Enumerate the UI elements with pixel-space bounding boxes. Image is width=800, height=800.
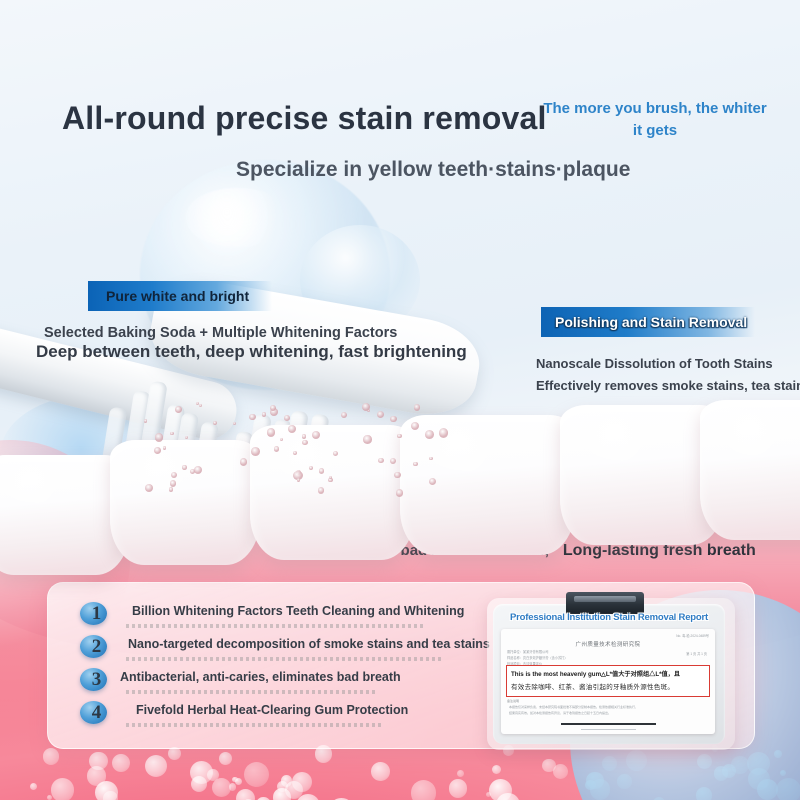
product-marketing-poster: All-round precise stain removal Speciali… — [0, 0, 800, 800]
foam-bubble — [43, 748, 60, 765]
benefit-item: 2Nano-targeted decomposition of smoke st… — [80, 633, 440, 666]
foam-bubble — [47, 795, 52, 800]
report-note-body: 本报告仅对来样负责，未经本研究院书面批准不得部分复制本报告。检测依据相关行业标准… — [509, 704, 707, 716]
benefit-text: Antibacterial, anti-caries, eliminates b… — [120, 670, 401, 684]
benefit-item: 3Antibacterial, anti-caries, eliminates … — [80, 666, 440, 699]
report-highlight-en: This is the most heavenly gum — [511, 671, 601, 678]
tooth — [110, 440, 260, 565]
plaque-particle — [425, 430, 434, 439]
report-doc-header: 广州质量技术检测研究院 — [501, 640, 715, 648]
plaque-particle — [175, 406, 182, 413]
benefit-number: 2 — [80, 633, 113, 660]
plaque-particle — [270, 405, 276, 411]
plaque-particle — [312, 431, 320, 439]
foam-bubble — [244, 762, 269, 787]
plaque-particle — [144, 419, 148, 423]
report-highlight-box: This is the most heavenly gum△L*值大于对照组△L… — [506, 665, 710, 697]
benefit-number: 1 — [80, 600, 113, 627]
plaque-particle — [390, 416, 397, 423]
benefit-underline — [126, 723, 384, 727]
feature-badge-label: Polishing and Stain Removal — [555, 314, 747, 330]
report-doc-page: 第 1 页 共 1 页 — [686, 651, 707, 656]
foam-bubble — [486, 792, 491, 797]
clipboard-clamp-icon — [566, 592, 644, 614]
plaque-particle — [251, 447, 260, 456]
plaque-particle — [267, 428, 276, 437]
benefit-item: 1Billion Whitening Factors Teeth Cleanin… — [80, 600, 440, 633]
foam-bubble — [207, 769, 219, 781]
tagline: The more you brush, the whiter it gets — [540, 98, 770, 142]
foam-bubble — [492, 765, 501, 774]
page-subtitle: Specialize in yellow teeth·stains·plaque — [236, 158, 630, 182]
benefit-text: Billion Whitening Factors Teeth Cleaning… — [132, 604, 464, 618]
foam-bubble — [457, 770, 464, 777]
benefit-text: Nano-targeted decomposition of smoke sta… — [128, 637, 490, 651]
report-highlight-line-1: This is the most heavenly gum△L*值大于对照组△L… — [511, 669, 680, 678]
plaque-particle — [309, 466, 313, 470]
plaque-particle — [170, 480, 176, 486]
plaque-particle — [182, 465, 186, 469]
report-note-title: 备注说明 — [507, 699, 519, 703]
plaque-particle — [154, 447, 161, 454]
report-highlight-line-2: 有效去除咖啡、红茶、酱油引起的牙釉质外源性色斑。 — [511, 681, 674, 691]
plaque-particle — [363, 435, 371, 443]
benefit-underline — [126, 657, 444, 661]
plaque-particle — [397, 434, 401, 438]
plaque-particle — [439, 428, 449, 438]
plaque-particle — [163, 446, 167, 450]
foam-bubble — [411, 780, 436, 800]
plaque-particle — [413, 462, 418, 467]
benefit-item: 4Fivefold Herbal Heat-Clearing Gum Prote… — [80, 699, 440, 732]
benefit-number: 3 — [80, 666, 113, 693]
page-title: All-round precise stain removal — [62, 100, 547, 137]
feature-badge-pure-white: Pure white and bright — [88, 281, 272, 311]
report-doc-code: No. 粤-检-2024-0489号 — [676, 633, 709, 638]
report-highlight-cn: △L*值大于对照组△L*值，且 — [601, 671, 680, 678]
benefit-text: Fivefold Herbal Heat-Clearing Gum Protec… — [136, 703, 408, 717]
plaque-particle — [302, 440, 307, 445]
report-signature-subline — [581, 729, 636, 730]
plaque-particle — [262, 412, 266, 416]
foam-bubble — [449, 779, 467, 797]
plaque-particle — [284, 415, 290, 421]
plaque-particle — [396, 489, 403, 496]
benefits-list: 1Billion Whitening Factors Teeth Cleanin… — [80, 600, 440, 732]
feature-2-line-2: Effectively removes smoke stains, tea st… — [536, 378, 800, 393]
plaque-particle — [429, 478, 436, 485]
plaque-particle — [414, 404, 421, 411]
plaque-particle — [302, 434, 306, 438]
feature-2-line-1: Nanoscale Dissolution of Tooth Stains — [536, 356, 773, 371]
foam-bubble — [89, 752, 107, 770]
feature-badge-polishing: Polishing and Stain Removal — [541, 307, 755, 337]
foam-bubble — [95, 781, 118, 800]
plaque-particle — [249, 414, 255, 420]
feature-badge-label: Pure white and bright — [106, 288, 249, 304]
foam-bubble — [277, 781, 288, 792]
tooth — [700, 400, 800, 540]
foam-bubble — [51, 778, 74, 800]
plaque-particle — [240, 458, 247, 465]
benefit-number: 4 — [80, 699, 113, 726]
foam-bubble — [229, 783, 237, 791]
foam-bubble — [371, 762, 390, 781]
report-title: Professional Institution Stain Removal R… — [497, 612, 721, 623]
feature-1-line-1: Selected Baking Soda + Multiple Whitenin… — [44, 325, 397, 341]
report-document: No. 粤-检-2024-0489号 广州质量技术检测研究院 委托单位：某某牙膏… — [501, 629, 715, 734]
feature-1-line-2: Deep between teeth, deep whitening, fast… — [36, 342, 467, 362]
report-signature-line — [561, 723, 656, 725]
foam-bubble — [542, 759, 555, 772]
benefit-underline — [126, 624, 426, 628]
plaque-particle — [169, 487, 173, 491]
benefit-underline — [126, 690, 376, 694]
